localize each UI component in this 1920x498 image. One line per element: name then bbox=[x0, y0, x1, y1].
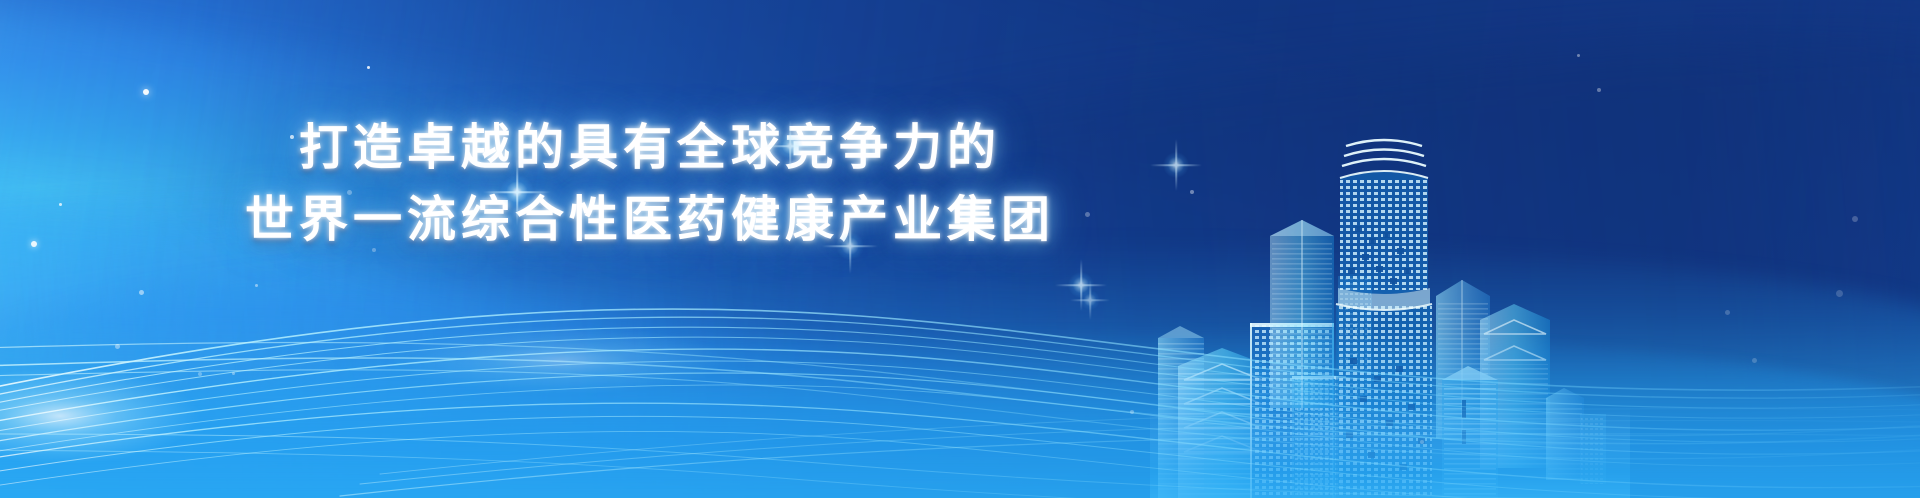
flowing-light-wave-lines bbox=[0, 198, 1920, 498]
hero-banner: 打造卓越的具有全球竞争力的 世界一流综合性医药健康产业集团 bbox=[0, 0, 1920, 498]
